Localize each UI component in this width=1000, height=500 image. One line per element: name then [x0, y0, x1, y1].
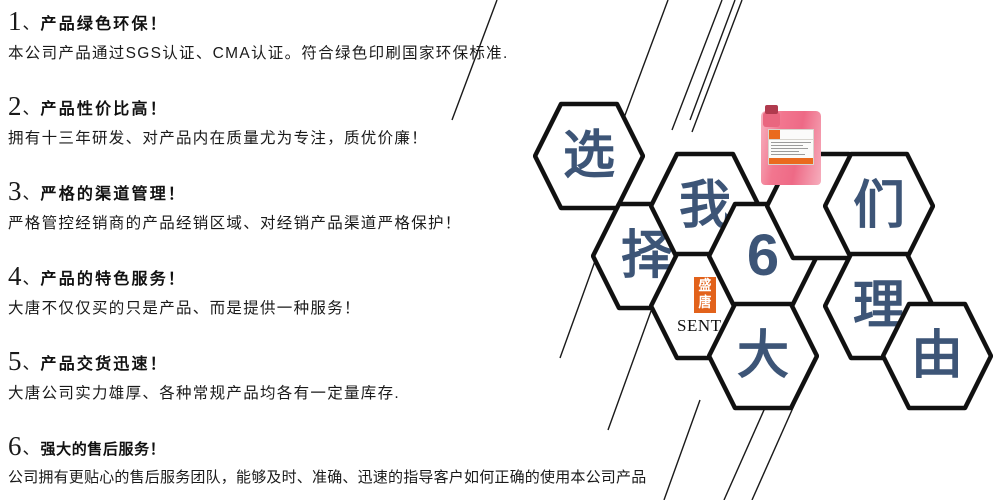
hexagon-label: 们 — [823, 150, 935, 262]
promo-banner: 1 、 产品绿色环保！ 本公司产品通过SGS认证、CMA认证。符合绿色印刷国家环… — [0, 0, 1000, 500]
hexagon-da: 大 — [707, 300, 819, 412]
product-jug-image — [761, 103, 821, 185]
jug-cap — [765, 105, 778, 114]
jug-label-text-lines — [769, 140, 813, 155]
jug-label-footer — [769, 158, 813, 164]
hexagon-cluster: 选 择 我 盛 唐 SENTA — [0, 0, 1000, 500]
jug-label — [768, 129, 814, 165]
hexagon-you: 由 — [881, 300, 993, 412]
jug-label-swatch — [769, 130, 780, 139]
hexagon-label: 大 — [707, 300, 819, 412]
hexagon-label: 由 — [881, 300, 993, 412]
jug-label-header — [769, 130, 813, 140]
jug-handle — [763, 112, 780, 127]
hexagon-men: 们 — [823, 150, 935, 262]
hexagon-label: 选 — [533, 100, 645, 212]
hexagon-xuan: 选 — [533, 100, 645, 212]
